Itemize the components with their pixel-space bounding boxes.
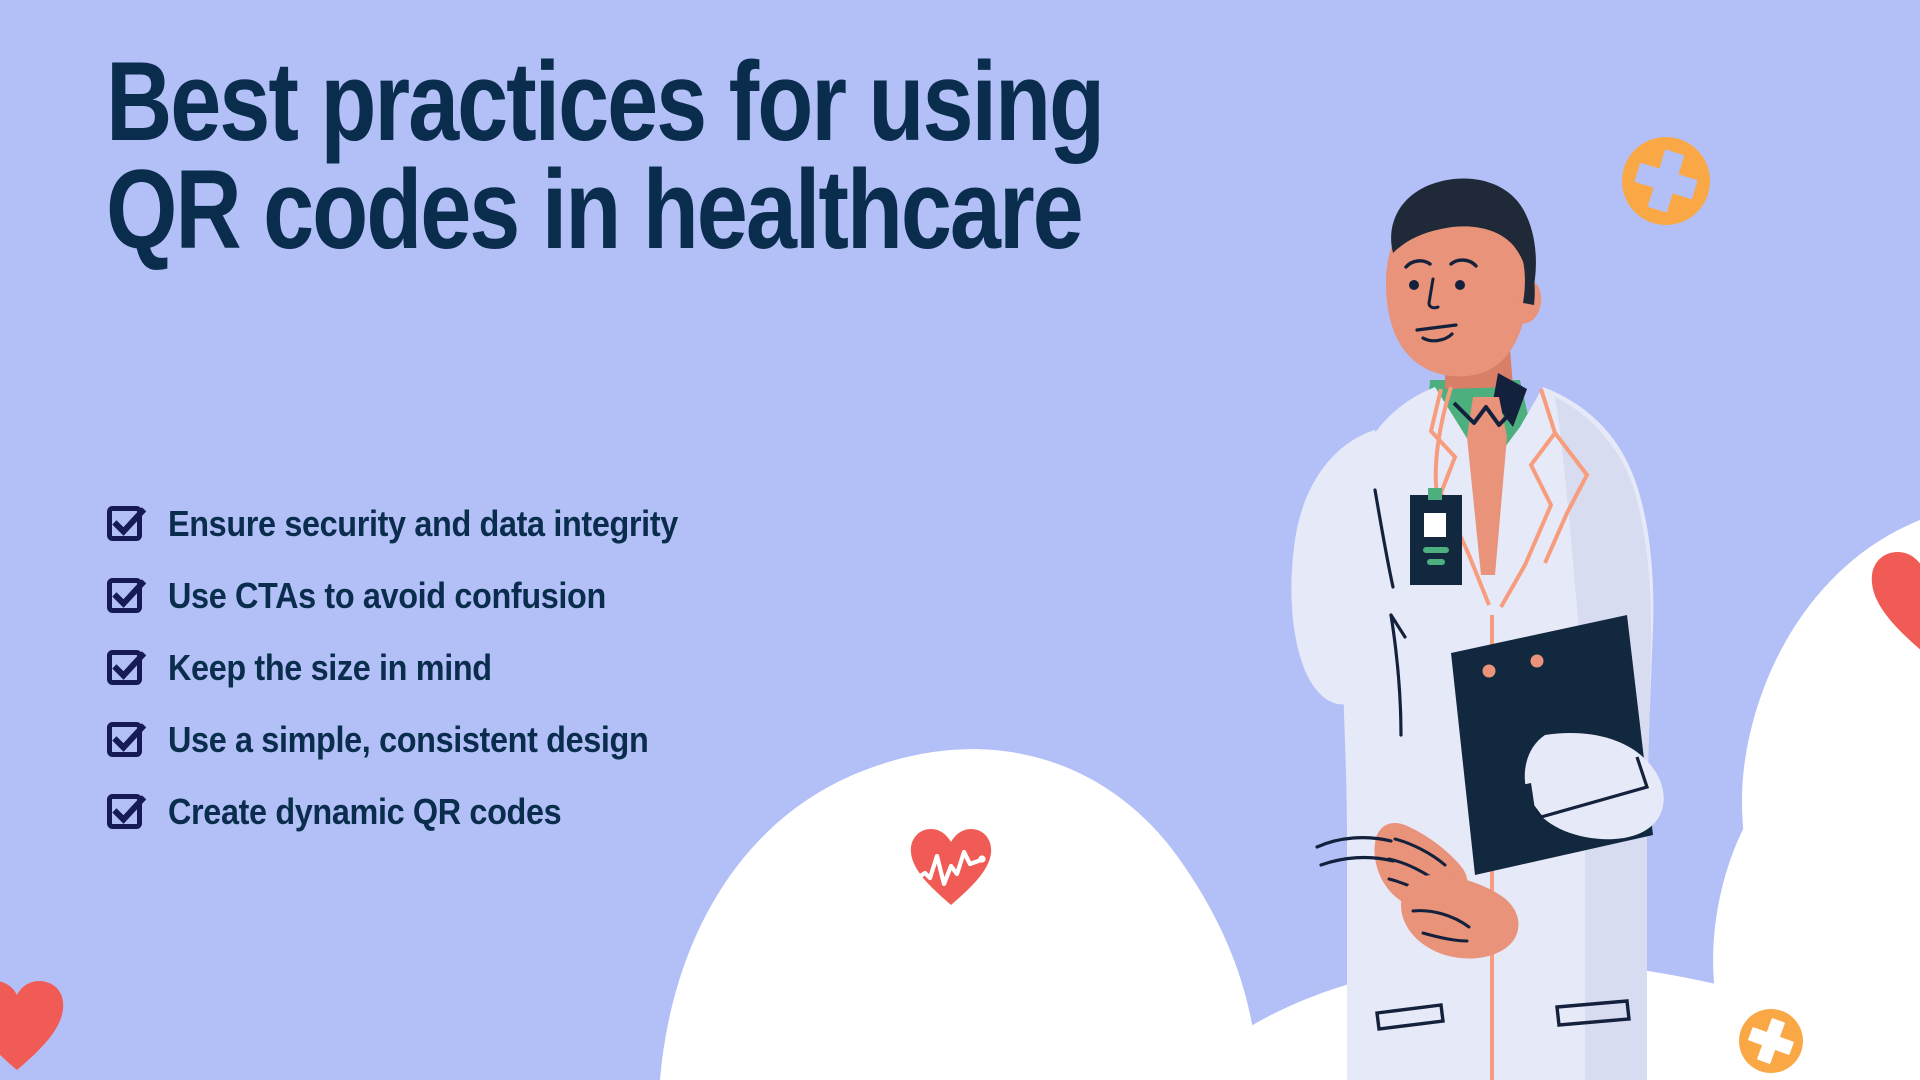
checkbox-checked-icon[interactable] <box>106 648 146 688</box>
heartbeat-heart-center <box>908 826 994 908</box>
list-item[interactable]: Use a simple, consistent design <box>106 704 926 776</box>
clipboard-dot-1 <box>1483 665 1496 678</box>
list-item[interactable]: Use CTAs to avoid confusion <box>106 560 926 632</box>
eye-right <box>1455 280 1465 290</box>
badge-card <box>1410 495 1462 585</box>
page-title-line-1: Best practices for using <box>106 48 1024 156</box>
checkbox-checked-icon[interactable] <box>106 576 146 616</box>
badge-clip <box>1428 488 1442 500</box>
heart-right-edge-partial <box>1868 548 1920 656</box>
list-item-label: Use a simple, consistent design <box>168 719 648 761</box>
page-title: Best practices for using QR codes in hea… <box>106 48 1024 263</box>
list-item[interactable]: Ensure security and data integrity <box>106 488 926 560</box>
medical-cross-badge-bottom-right <box>1738 1008 1804 1074</box>
page-title-line-2: QR codes in healthcare <box>106 156 1024 264</box>
doctor-with-clipboard-illustration <box>1255 175 1735 1080</box>
checkbox-checked-icon[interactable] <box>106 720 146 760</box>
list-item-label: Create dynamic QR codes <box>168 791 561 833</box>
list-item[interactable]: Keep the size in mind <box>106 632 926 704</box>
checkbox-checked-icon[interactable] <box>106 792 146 832</box>
eye-left <box>1409 280 1419 290</box>
heart-left-edge-partial <box>0 978 66 1074</box>
checkbox-checked-icon[interactable] <box>106 504 146 544</box>
badge-line-2 <box>1427 559 1445 565</box>
list-item[interactable]: Create dynamic QR codes <box>106 776 926 848</box>
badge-photo <box>1424 513 1446 537</box>
best-practices-checklist: Ensure security and data integrity Use C… <box>106 488 926 848</box>
clipboard-dot-2 <box>1531 655 1544 668</box>
list-item-label: Keep the size in mind <box>168 647 492 689</box>
medical-cross-badge-top-right <box>1620 135 1712 227</box>
poster-canvas: Best practices for using QR codes in hea… <box>0 0 1920 1080</box>
list-item-label: Ensure security and data integrity <box>168 503 678 545</box>
list-item-label: Use CTAs to avoid confusion <box>168 575 606 617</box>
badge-line-1 <box>1423 547 1449 553</box>
